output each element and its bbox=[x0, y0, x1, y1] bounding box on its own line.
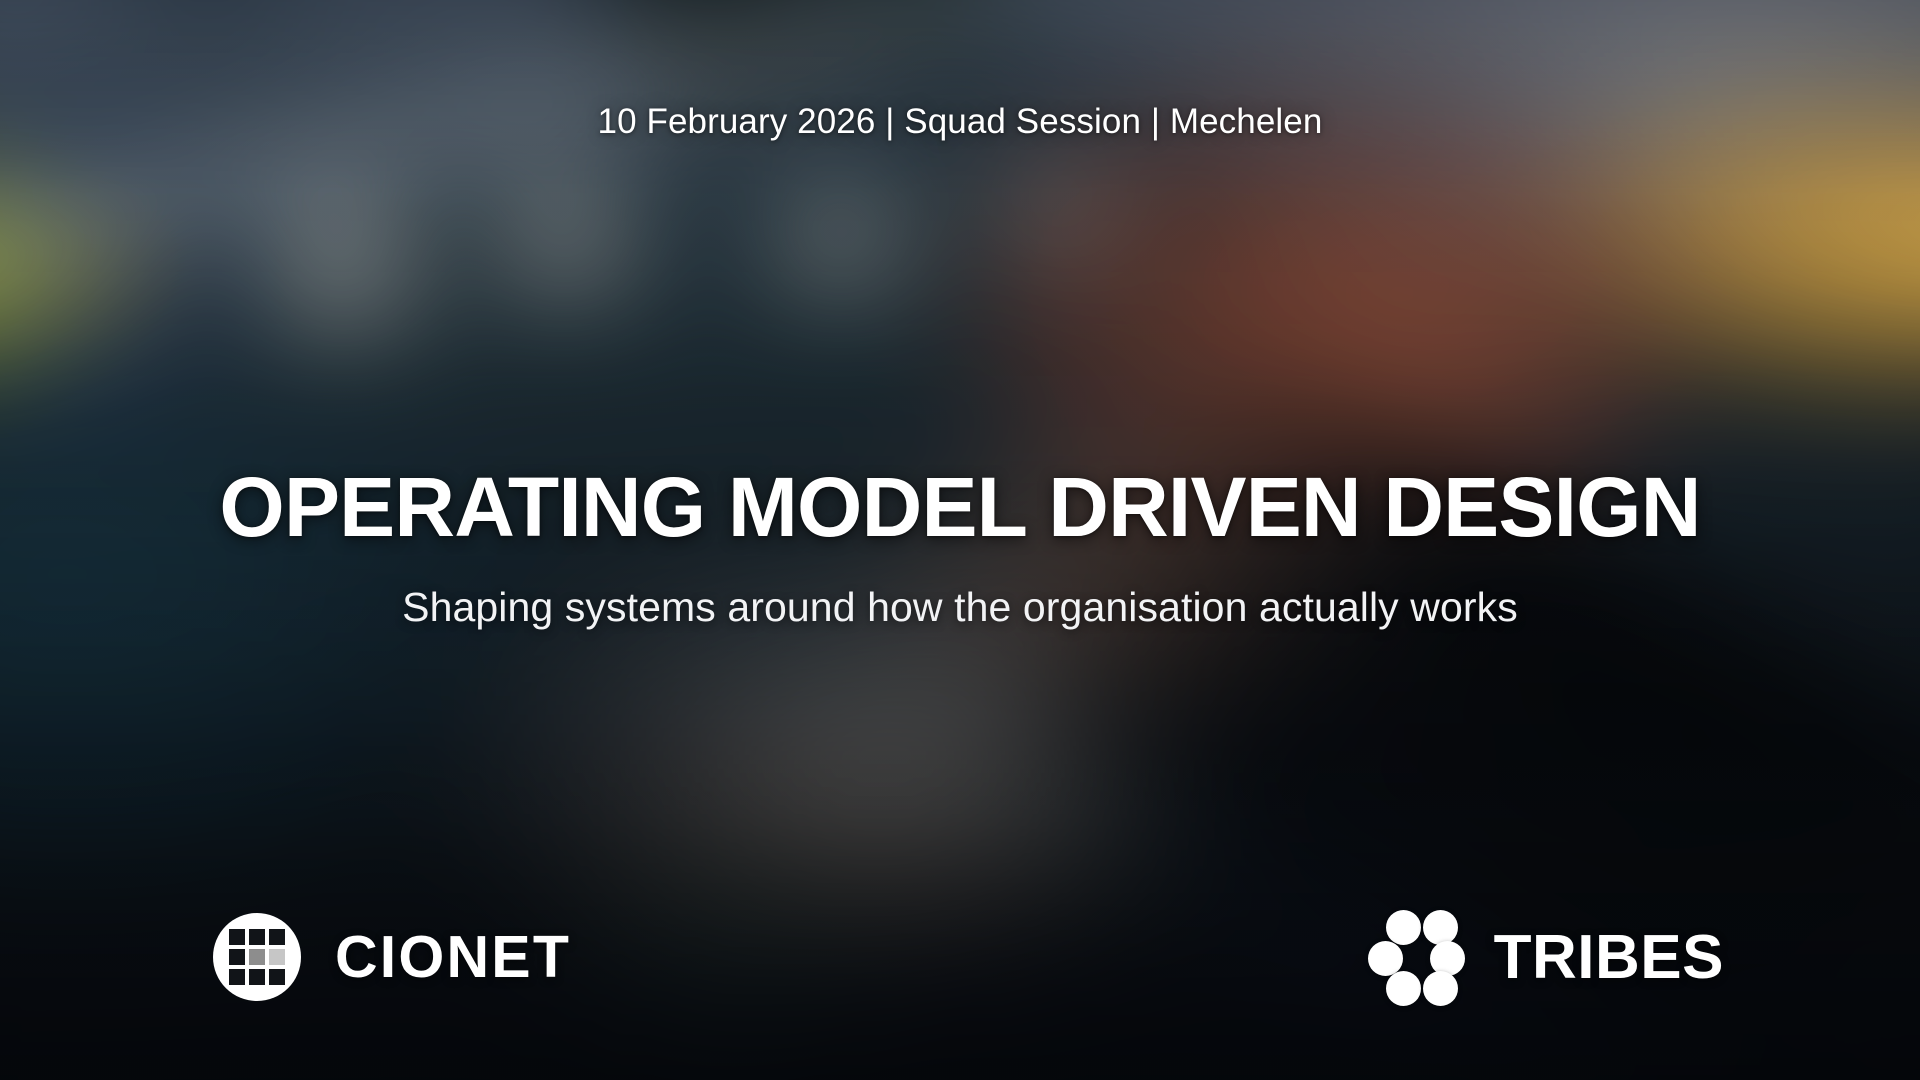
event-meta-line: 10 February 2026 | Squad Session | Meche… bbox=[0, 101, 1920, 143]
grid-cell bbox=[249, 929, 265, 945]
grid-cell bbox=[269, 929, 285, 945]
tribes-six-dot-icon bbox=[1368, 910, 1468, 1006]
grid-cell bbox=[269, 969, 285, 985]
cionet-grid-circle-icon bbox=[213, 913, 301, 1001]
grid-cell bbox=[229, 949, 245, 965]
grid-cell bbox=[229, 969, 245, 985]
page-subtitle: Shaping systems around how the organisat… bbox=[0, 582, 1920, 633]
page-title: OPERATING MODEL DRIVEN DESIGN bbox=[0, 465, 1920, 551]
grid-cell bbox=[249, 969, 265, 985]
tribes-dot bbox=[1386, 910, 1421, 945]
presentation-title-slide: 10 February 2026 | Squad Session | Meche… bbox=[0, 0, 1920, 1080]
tribes-dot bbox=[1423, 971, 1458, 1006]
tribes-wordmark: TRIBES bbox=[1494, 927, 1724, 989]
slide-content: 10 February 2026 | Squad Session | Meche… bbox=[0, 0, 1920, 1080]
grid-cell bbox=[269, 949, 285, 965]
tribes-dot bbox=[1368, 941, 1403, 976]
tribes-logo: TRIBES bbox=[1368, 910, 1724, 1006]
grid-cell bbox=[249, 949, 265, 965]
cionet-logo: CIONET bbox=[213, 913, 571, 1001]
grid-cell bbox=[229, 929, 245, 945]
tribes-dot bbox=[1386, 971, 1421, 1006]
cionet-grid bbox=[229, 929, 285, 985]
tribes-dot bbox=[1423, 910, 1458, 945]
cionet-wordmark: CIONET bbox=[335, 928, 571, 987]
